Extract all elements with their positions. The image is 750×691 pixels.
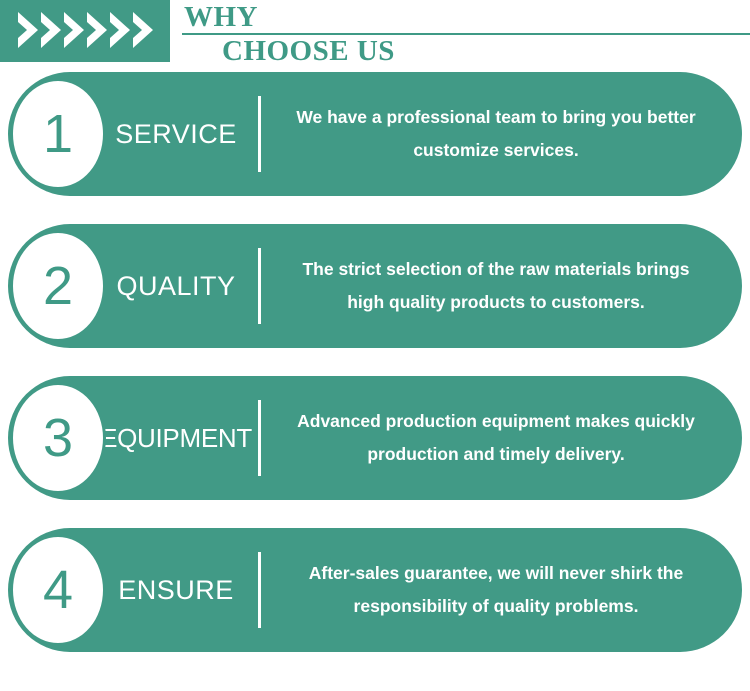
title-line-choose-us: CHOOSE US <box>222 36 395 66</box>
card-number-badge: 4 <box>10 534 106 646</box>
feature-card-quality: 2 QUALITY The strict selection of the ra… <box>0 224 750 348</box>
title-line-why: WHY <box>184 2 258 32</box>
card-description-line-2: customize services. <box>413 134 578 167</box>
card-description: We have a professional team to bring you… <box>272 72 720 196</box>
chevron-right-icon-6 <box>131 12 157 48</box>
card-label-text: QUALITY <box>116 271 235 301</box>
card-description-line-2: high quality products to customers. <box>347 286 645 319</box>
card-number-badge: 3 <box>10 382 106 494</box>
card-description-line-2: production and timely delivery. <box>367 438 624 471</box>
page-header: WHY CHOOSE US <box>0 0 750 72</box>
card-label: SERVICE <box>96 72 256 196</box>
card-label: EQUIPMENT <box>96 376 256 500</box>
page-title: WHY CHOOSE US <box>182 0 750 66</box>
card-label-text: EQUIPMENT <box>100 423 252 453</box>
card-description-line-1: After-sales guarantee, we will never shi… <box>309 557 683 590</box>
feature-card-list: 1 SERVICE We have a professional team to… <box>0 72 750 680</box>
card-description-line-1: The strict selection of the raw material… <box>302 253 689 286</box>
card-description: After-sales guarantee, we will never shi… <box>272 528 720 652</box>
card-number-badge: 1 <box>10 78 106 190</box>
card-number: 4 <box>43 563 73 617</box>
card-divider <box>258 400 261 476</box>
card-label-text: SERVICE <box>115 119 237 149</box>
card-description: The strict selection of the raw material… <box>272 224 720 348</box>
card-label-text: ENSURE <box>118 575 234 605</box>
card-number-badge: 2 <box>10 230 106 342</box>
card-description: Advanced production equipment makes quic… <box>272 376 720 500</box>
card-number: 1 <box>43 107 73 161</box>
card-label: ENSURE <box>96 528 256 652</box>
card-description-line-1: We have a professional team to bring you… <box>296 101 695 134</box>
card-divider <box>258 552 261 628</box>
card-divider <box>258 248 261 324</box>
card-number: 3 <box>43 411 73 465</box>
feature-card-ensure: 4 ENSURE After-sales guarantee, we will … <box>0 528 750 652</box>
card-description-line-2: responsibility of quality problems. <box>354 590 639 623</box>
card-divider <box>258 96 261 172</box>
card-description-line-1: Advanced production equipment makes quic… <box>297 405 695 438</box>
feature-card-equipment: 3 EQUIPMENT Advanced production equipmen… <box>0 376 750 500</box>
chevrons-right-icon <box>0 0 170 62</box>
card-number: 2 <box>43 259 73 313</box>
feature-card-service: 1 SERVICE We have a professional team to… <box>0 72 750 196</box>
card-label: QUALITY <box>96 224 256 348</box>
